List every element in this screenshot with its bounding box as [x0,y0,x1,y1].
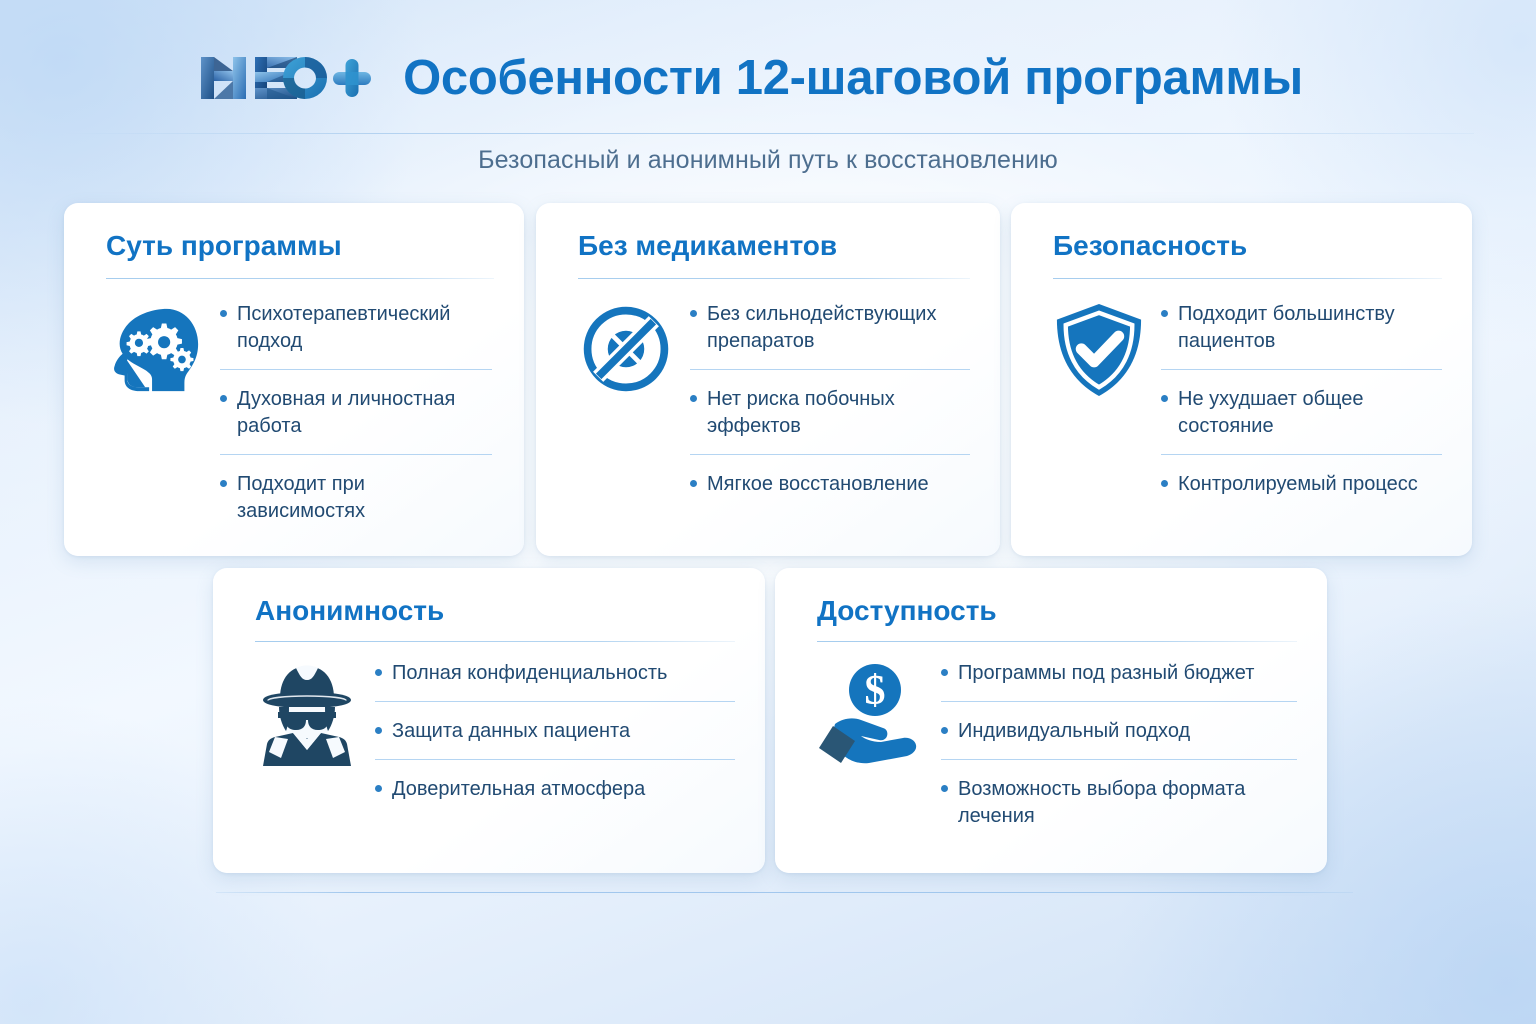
bullet-dot-icon [220,480,227,487]
card-title-divider [1053,278,1442,279]
card-afford[interactable]: Доступность $ Программы под разный бюдже… [775,568,1327,873]
svg-text:$: $ [865,668,886,714]
bullet-dot-icon [941,669,948,676]
card-title: Анонимность [255,596,735,627]
card-title: Доступность [817,596,1297,627]
footer-divider [216,892,1353,893]
card-title-divider [255,641,735,642]
hand-coin-icon: $ [817,660,925,764]
card-title: Безопасность [1053,231,1442,262]
neo-plus-logo [197,51,373,105]
bullet-text: Индивидуальный подход [958,718,1297,745]
card-title: Суть программы [106,231,494,262]
card-title-divider [578,278,970,279]
bullet-dot-icon [941,727,948,734]
no-pills-icon [578,301,674,397]
page-title: Особенности 12-шаговой программы [403,54,1303,103]
head-gears-icon [106,301,204,399]
card-title: Без медикаментов [578,231,970,262]
bullet-text: Полная конфиденциальность [392,660,735,687]
bullet-dot-icon [690,480,697,487]
bullet-text: Возможность выбора формата лечения [958,776,1297,830]
list-item: Без сильнодействующих препаратов [690,301,970,355]
bullet-dot-icon [1161,395,1168,402]
list-item: Подходит при зависимостях [220,454,492,525]
bullet-dot-icon [690,310,697,317]
card-title-divider [817,641,1297,642]
bullet-text: Доверительная атмосфера [392,776,735,803]
incognito-spy-icon [255,660,359,772]
card-anonymity[interactable]: Анонимность [213,568,765,873]
list-item: Духовная и личностная работа [220,369,492,440]
bullet-text: Защита данных пациента [392,718,735,745]
bullet-dot-icon [220,395,227,402]
bullet-dot-icon [690,395,697,402]
list-item: Контролируемый процесс [1161,454,1442,498]
bullet-text: Нет риска побочных эффектов [707,386,970,440]
card-essence[interactable]: Суть программы [64,203,524,556]
bullet-dot-icon [375,669,382,676]
list-item: Защита данных пациента [375,701,735,745]
bullet-text: Психотерапевтический подход [237,301,492,355]
list-item: Психотерапевтический подход [220,301,492,355]
bullet-text: Не ухудшает общее состояние [1178,386,1442,440]
bullet-list: Без сильнодействующих препаратов Нет рис… [690,301,970,498]
bullet-text: Без сильнодействующих препаратов [707,301,970,355]
bullet-text: Контролируемый процесс [1178,471,1442,498]
list-item: Не ухудшает общее состояние [1161,369,1442,440]
bullet-dot-icon [1161,310,1168,317]
bullet-text: Программы под разный бюджет [958,660,1297,687]
bullet-dot-icon [375,785,382,792]
list-item: Доверительная атмосфера [375,759,735,803]
bullet-list: Программы под разный бюджет Индивидуальн… [941,660,1297,830]
bullet-list: Подходит большинству пациентов Не ухудша… [1161,301,1442,498]
list-item: Программы под разный бюджет [941,660,1297,687]
header-divider [64,133,1474,134]
bullet-list: Психотерапевтический подход Духовная и л… [220,301,494,525]
card-safety[interactable]: Безопасность Подходит большинству пациен… [1011,203,1472,556]
card-title-divider [106,278,494,279]
card-nomeds[interactable]: Без медикаментов Без сильнодействующих п… [536,203,1000,556]
bullet-text: Духовная и личностная работа [237,386,492,440]
page-subtitle: Безопасный и анонимный путь к восстановл… [0,146,1536,175]
bullet-dot-icon [220,310,227,317]
list-item: Нет риска побочных эффектов [690,369,970,440]
bullet-text: Подходит при зависимостях [237,471,492,525]
shield-check-icon [1053,301,1145,399]
list-item: Возможность выбора формата лечения [941,759,1297,830]
bullet-text: Подходит большинству пациентов [1178,301,1442,355]
header: Особенности 12-шаговой программы [0,44,1536,112]
list-item: Мягкое восстановление [690,454,970,498]
bullet-dot-icon [1161,480,1168,487]
infographic-canvas: Особенности 12-шаговой программы Безопас… [0,0,1536,1024]
bullet-dot-icon [375,727,382,734]
list-item: Подходит большинству пациентов [1161,301,1442,355]
bullet-dot-icon [941,785,948,792]
list-item: Индивидуальный подход [941,701,1297,745]
bullet-list: Полная конфиденциальность Защита данных … [375,660,735,803]
list-item: Полная конфиденциальность [375,660,735,687]
bullet-text: Мягкое восстановление [707,471,970,498]
